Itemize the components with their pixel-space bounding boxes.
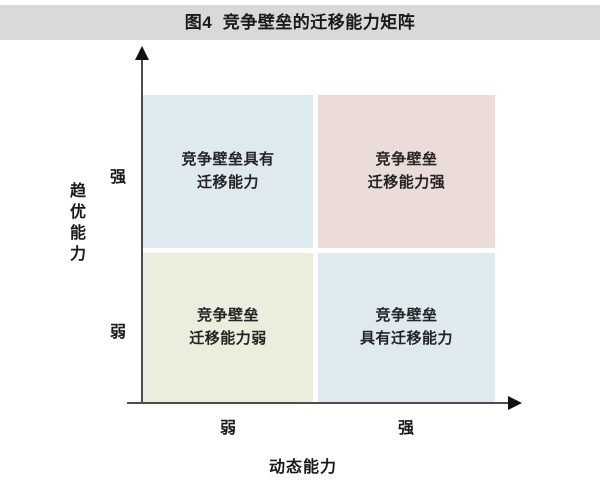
quadrant-bottom-right-label: 竞争壁垒 具有迁移能力 <box>360 305 453 350</box>
x-axis-arrow-icon <box>508 396 522 410</box>
quadrant-top-right: 竞争壁垒 迁移能力强 <box>318 95 495 248</box>
quadrant-bottom-left-label: 竞争壁垒 迁移能力弱 <box>189 305 267 350</box>
x-axis-tick-weak: 弱 <box>208 414 248 438</box>
quadrant-top-left-label: 竞争壁垒具有 迁移能力 <box>181 149 274 194</box>
quadrant-bottom-left: 竞争壁垒 迁移能力弱 <box>143 253 313 402</box>
page-title: 图4 竞争壁垒的迁移能力矩阵 <box>0 5 600 40</box>
y-axis-tick-strong: 强 <box>103 163 133 187</box>
quadrant-bottom-right: 竞争壁垒 具有迁移能力 <box>318 253 495 402</box>
y-axis-title: 趋优能力 <box>57 182 83 266</box>
x-axis-line <box>127 402 510 404</box>
x-axis-tick-strong: 强 <box>386 414 426 438</box>
figure-title-band: 图4 竞争壁垒的迁移能力矩阵 <box>0 5 600 40</box>
matrix-chart: 竞争壁垒具有 迁移能力 竞争壁垒 迁移能力强 竞争壁垒 迁移能力弱 竞争壁垒 具… <box>0 40 600 486</box>
quadrant-top-right-label: 竞争壁垒 迁移能力强 <box>368 149 446 194</box>
x-axis-title: 动态能力 <box>243 453 363 477</box>
quadrant-top-left: 竞争壁垒具有 迁移能力 <box>143 95 313 248</box>
y-axis-tick-weak: 弱 <box>103 318 133 342</box>
y-axis-arrow-icon <box>135 46 149 60</box>
